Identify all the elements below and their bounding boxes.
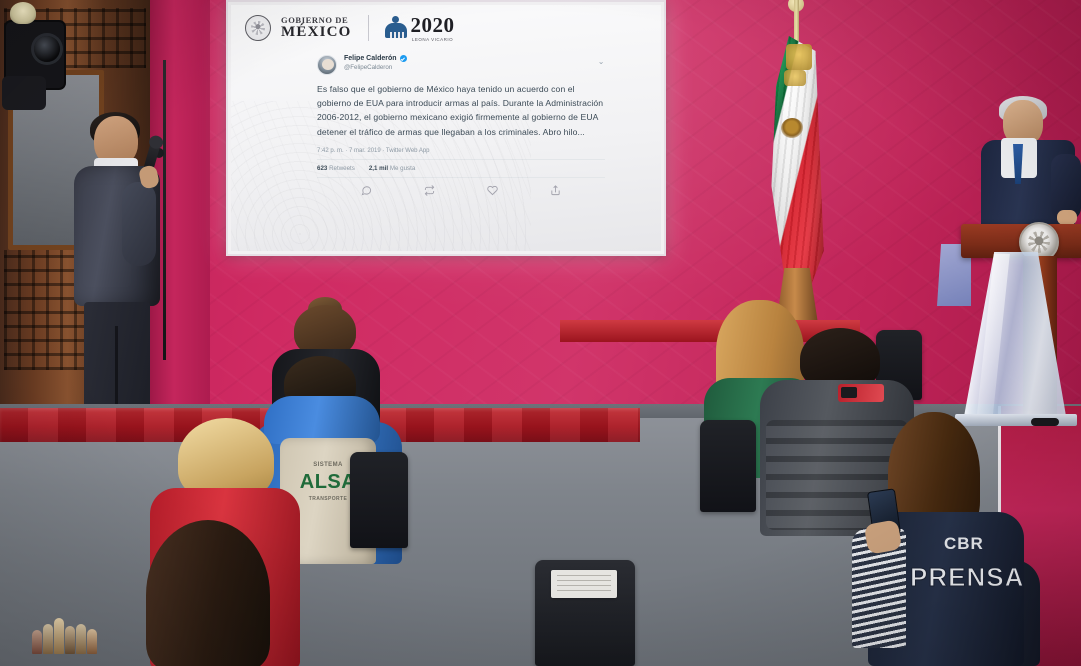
retweet-count: 623 [317, 165, 327, 172]
sculpture-figure [32, 630, 42, 654]
header-divider [368, 15, 369, 41]
reply-icon[interactable] [361, 185, 372, 196]
tweet-body-text: Es falso que el gobierno de México haya … [317, 82, 605, 139]
figure-head [392, 16, 399, 23]
camera-body [2, 76, 46, 110]
chair [700, 420, 756, 512]
audience-press: CBR PRENSA [858, 412, 1028, 666]
chair-with-papers [535, 560, 635, 666]
tweet-divider-bottom [317, 177, 605, 178]
hair [146, 520, 270, 666]
video-camera-icon [6, 22, 64, 88]
retweet-label: Retweets [329, 165, 355, 172]
tweet-card: Felipe Calderón @FelipeCalderon ⌄ Es fal… [317, 55, 605, 196]
figure-body [385, 23, 407, 38]
papers [551, 570, 617, 598]
tweet-author: Felipe Calderón [344, 55, 407, 62]
tweet-author-name: Felipe Calderón [344, 55, 397, 62]
like-icon[interactable] [487, 185, 498, 196]
share-icon[interactable] [550, 185, 561, 196]
president-hand [1057, 210, 1077, 225]
tweet-divider-top [317, 159, 605, 160]
tweet-action-bar [317, 185, 605, 196]
sculpture-figure [65, 626, 75, 654]
like-label: Me gusta [390, 165, 415, 172]
broadcast-frame: GOBIERNO DE MÉXICO 2020 LEONA VICARIO [0, 0, 1081, 666]
like-count: 2,1 mil [369, 165, 388, 172]
sculpture-figure [76, 624, 86, 654]
slide-header: GOBIERNO DE MÉXICO 2020 LEONA VICARIO [231, 5, 661, 51]
press-label-text: PRENSA [910, 562, 1024, 593]
audience-dark-hair [128, 520, 298, 666]
chair [350, 452, 408, 548]
commemorative-year: 2020 [411, 15, 455, 36]
press-org-text: CBR [944, 534, 984, 554]
retweet-stat[interactable]: 623 Retweets [317, 165, 355, 172]
commemorative-logo: 2020 LEONA VICARIO [385, 15, 455, 42]
shoulder-patch [838, 384, 884, 402]
mexican-flag [762, 0, 832, 320]
presenter-arm [122, 182, 156, 266]
gobierno-line2: MÉXICO [281, 25, 352, 40]
studio-light-icon [10, 2, 36, 24]
leona-vicario-icon [385, 16, 407, 40]
presenter-trousers [84, 302, 150, 414]
sculpture-figure [43, 624, 53, 654]
podium-and-president [945, 96, 1081, 426]
sculpture-figure [54, 618, 64, 654]
camera-lens-icon [34, 36, 60, 62]
gobierno-seal-icon [245, 15, 271, 41]
more-options-icon[interactable]: ⌄ [598, 57, 605, 66]
tweet-timestamp: 7:42 p. m. · 7 mar. 2019 · Twitter Web A… [317, 148, 605, 154]
commemorative-subtitle: LEONA VICARIO [411, 37, 455, 42]
presenter-with-microphone [62, 116, 172, 431]
flag-tassel-upper [786, 44, 812, 70]
like-stat[interactable]: 2,1 mil Me gusta [369, 165, 415, 172]
podium-microphone-icon [1031, 418, 1059, 426]
sculpture-figure [87, 629, 97, 654]
gobierno-wordmark: GOBIERNO DE MÉXICO [281, 16, 352, 41]
retweet-icon[interactable] [424, 185, 435, 196]
floor-sculpture [30, 614, 100, 654]
tweet-handle: @FelipeCalderon [344, 64, 407, 71]
gobierno-line1: GOBIERNO DE [281, 16, 352, 25]
projection-screen: GOBIERNO DE MÉXICO 2020 LEONA VICARIO [226, 0, 666, 256]
flag-tassel-lower [784, 70, 806, 86]
tweet-header: Felipe Calderón @FelipeCalderon ⌄ [317, 55, 605, 75]
avatar-icon [317, 55, 337, 75]
verified-badge-icon [400, 55, 407, 62]
tweet-stats: 623 Retweets 2,1 mil Me gusta [317, 165, 605, 172]
slide-surface: GOBIERNO DE MÉXICO 2020 LEONA VICARIO [231, 5, 661, 251]
